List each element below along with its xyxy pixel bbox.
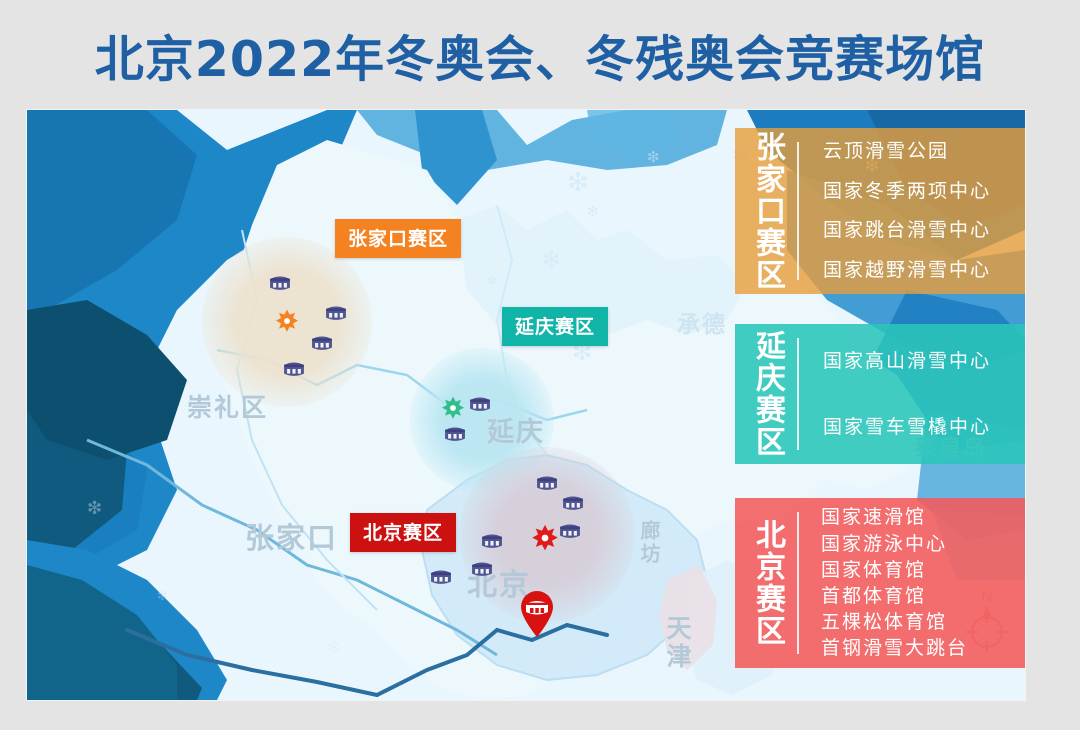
legend-zone-label-zhangjiakou: 张家口赛区 bbox=[735, 128, 797, 294]
legend-venue-item[interactable]: 国家游泳中心 bbox=[821, 531, 1015, 557]
legend-venue-list-zhangjiakou: 云顶滑雪公园 国家冬季两项中心 国家跳台滑雪中心 国家越野滑雪中心 bbox=[799, 128, 1025, 294]
stadium-icon-bj-1[interactable] bbox=[534, 472, 560, 494]
stadium-icon-yq-1[interactable] bbox=[467, 393, 493, 415]
stadium-icon-bj-6[interactable] bbox=[428, 566, 454, 588]
zone-badge-zhangjiakou[interactable]: 张家口赛区 bbox=[335, 219, 461, 258]
snowflake-icon-yanqing bbox=[440, 395, 466, 421]
legend-venue-item[interactable]: 首钢滑雪大跳台 bbox=[821, 635, 1015, 661]
legend-venue-item[interactable]: 国家体育馆 bbox=[821, 557, 1015, 583]
legend-venue-item[interactable]: 五棵松体育馆 bbox=[821, 609, 1015, 635]
stadium-icon-yq-2[interactable] bbox=[442, 423, 468, 445]
stadium-icon-bj-4[interactable] bbox=[479, 530, 505, 552]
stadium-icon-zjk-1[interactable] bbox=[267, 272, 293, 294]
legend-venue-item[interactable]: 首都体育馆 bbox=[821, 583, 1015, 609]
zone-badge-beijing[interactable]: 北京赛区 bbox=[350, 513, 456, 552]
map-pin-icon-highlight[interactable] bbox=[517, 588, 557, 638]
legend-venue-item[interactable]: 国家冬季两项中心 bbox=[823, 182, 1015, 201]
city-label-yanqing: 延庆 bbox=[487, 410, 545, 449]
zone-badge-yanqing[interactable]: 延庆赛区 bbox=[502, 307, 608, 346]
city-label-langfang: 廊坊 bbox=[635, 520, 664, 566]
stadium-icon-bj-5[interactable] bbox=[469, 558, 495, 580]
legend-venue-item[interactable]: 国家跳台滑雪中心 bbox=[823, 221, 1015, 240]
city-label-tianjin: 天津 bbox=[659, 615, 695, 671]
stadium-icon-bj-3[interactable] bbox=[557, 520, 583, 542]
legend-panel-beijing[interactable]: 北京赛区 国家速滑馆 国家游泳中心 国家体育馆 首都体育馆 五棵松体育馆 首钢滑… bbox=[735, 498, 1025, 668]
snowflake-icon-zhangjiakou bbox=[274, 308, 300, 334]
snowflake-icon-beijing bbox=[530, 523, 560, 553]
city-label-chongli: 崇礼区 bbox=[187, 388, 268, 424]
stadium-icon-zjk-2[interactable] bbox=[323, 302, 349, 324]
legend-venue-item[interactable]: 云顶滑雪公园 bbox=[823, 142, 1015, 161]
legend-panel-yanqing[interactable]: 延庆赛区 国家高山滑雪中心 国家雪车雪橇中心 bbox=[735, 324, 1025, 464]
legend-panel-zhangjiakou[interactable]: 张家口赛区 云顶滑雪公园 国家冬季两项中心 国家跳台滑雪中心 国家越野滑雪中心 bbox=[735, 128, 1025, 294]
legend-venue-list-yanqing: 国家高山滑雪中心 国家雪车雪橇中心 bbox=[799, 324, 1025, 464]
city-label-chengde: 承德 bbox=[677, 305, 727, 339]
stadium-icon-zjk-4[interactable] bbox=[281, 358, 307, 380]
page-header: 北京2022年冬奥会、冬残奥会竞赛场馆 bbox=[0, 0, 1080, 110]
legend-zone-label-yanqing: 延庆赛区 bbox=[735, 324, 797, 464]
legend-venue-item[interactable]: 国家高山滑雪中心 bbox=[823, 352, 1015, 371]
legend-zone-label-beijing: 北京赛区 bbox=[735, 498, 797, 668]
legend-venue-item[interactable]: 国家速滑馆 bbox=[821, 504, 1015, 530]
stadium-icon-bj-2[interactable] bbox=[560, 492, 586, 514]
stadium-icon-zjk-3[interactable] bbox=[309, 332, 335, 354]
legend-venue-item[interactable]: 国家雪车雪橇中心 bbox=[823, 418, 1015, 437]
page-title: 北京2022年冬奥会、冬残奥会竞赛场馆 bbox=[95, 20, 985, 91]
legend-venue-list-beijing: 国家速滑馆 国家游泳中心 国家体育馆 首都体育馆 五棵松体育馆 首钢滑雪大跳台 bbox=[799, 498, 1025, 668]
legend-venue-item[interactable]: 国家越野滑雪中心 bbox=[823, 261, 1015, 280]
city-label-zhangjiakou: 张家口 bbox=[245, 515, 338, 557]
